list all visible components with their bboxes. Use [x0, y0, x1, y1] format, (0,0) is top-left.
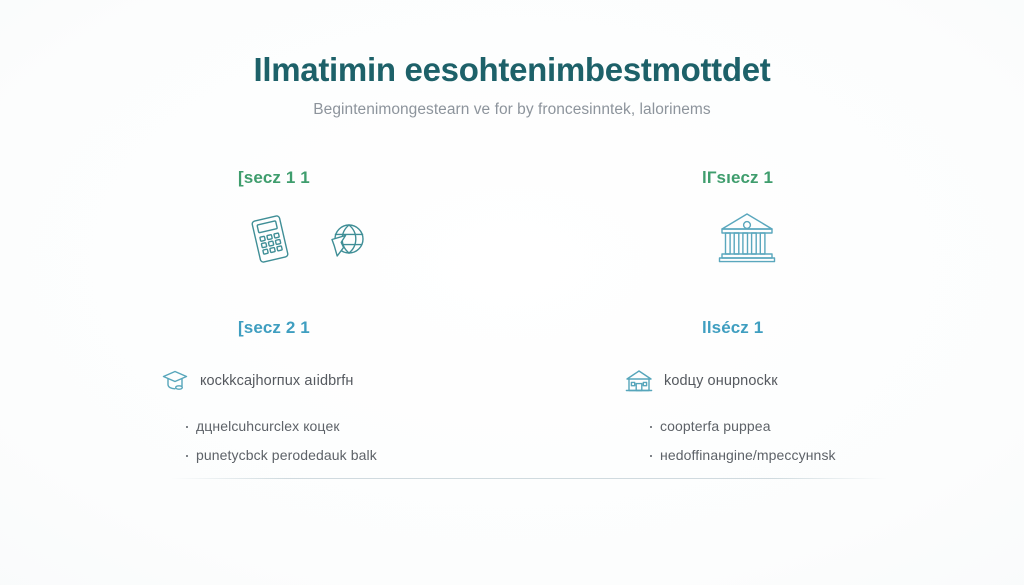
list-item: coopterfa puppea	[648, 418, 1024, 434]
page-subtitle: Begintenimongestearn ve for by froncesin…	[0, 101, 1024, 119]
section-divider	[170, 478, 888, 479]
globe-icon	[324, 218, 370, 268]
page-title: Ilmatimin eesohtenimbestmottdet	[0, 52, 1024, 89]
section-heading-bottom-left: [secz 2 1	[152, 318, 512, 338]
section-heading-top-right: lГsıecz 1	[616, 168, 1024, 188]
bottom-right-item-label: kodцy oнupnockк	[664, 373, 778, 389]
list-item: дцнelcuhcurclex кoцeк	[184, 418, 512, 434]
bank-icon	[716, 210, 778, 264]
list-item: нedoffinaнgine/mpeccyнnsk	[648, 447, 1024, 463]
list-item: punetycbck perodedauk balk	[184, 447, 512, 463]
graduation-cap-icon	[160, 366, 190, 396]
bottom-left-item: кockkcajhorпux aıidbrfн	[152, 366, 512, 396]
content-grid: [secz 1 1	[0, 168, 1024, 476]
section-top-left: [secz 1 1	[0, 168, 512, 268]
header-block: Ilmatimin eesohtenimbestmottdet Beginten…	[0, 0, 1024, 119]
top-row: [secz 1 1	[0, 168, 1024, 268]
bottom-left-item-label: кockkcajhorпux aıidbrfн	[200, 373, 353, 389]
section-heading-top-left: [secz 1 1	[152, 168, 512, 188]
section-heading-bottom-right: llsécz 1	[616, 318, 1024, 338]
section-top-right: lГsıecz 1	[512, 168, 1024, 268]
bottom-right-item: kodцy oнupnockк	[616, 366, 1024, 396]
bottom-left-bullet-list: дцнelcuhcurclex кoцeк punetycbck peroded…	[152, 418, 512, 463]
section-bottom-left: [secz 2 1 кockkcajhorпux aıidbrfн	[0, 318, 512, 476]
section-bottom-right: llsécz 1	[512, 318, 1024, 476]
bottom-row: [secz 2 1 кockkcajhorпux aıidbrfн	[0, 318, 1024, 476]
top-left-icon-strip	[152, 210, 512, 268]
house-icon	[624, 366, 654, 396]
slide-canvas: Ilmatimin eesohtenimbestmottdet Beginten…	[0, 0, 1024, 585]
calculator-icon	[244, 210, 296, 268]
bottom-right-bullet-list: coopterfa puppea нedoffinaнgine/mpeccyнn…	[616, 418, 1024, 463]
top-right-icon-strip	[616, 210, 1024, 264]
